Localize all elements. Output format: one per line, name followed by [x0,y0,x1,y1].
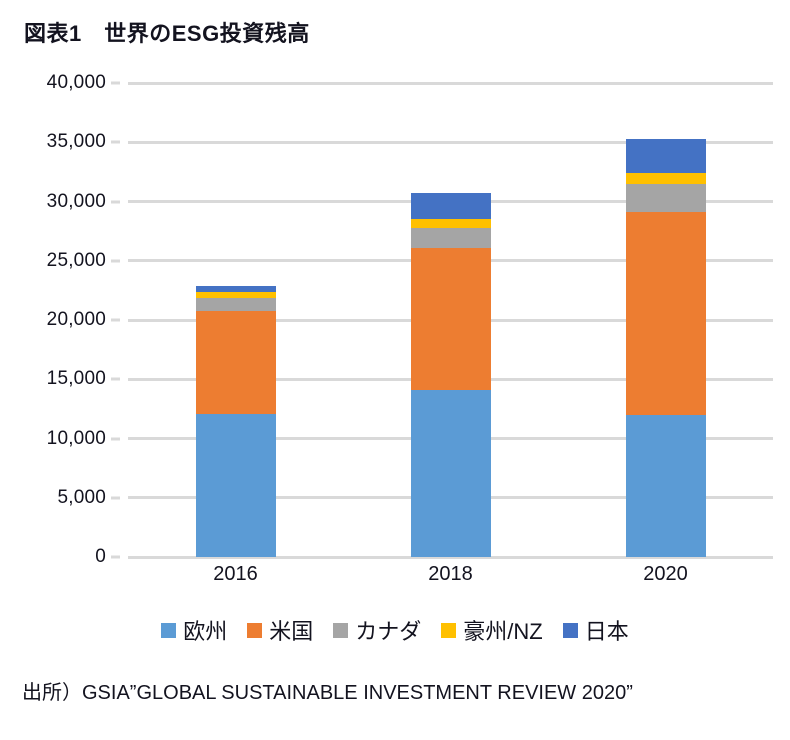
y-axis-tick-mark [111,200,120,203]
y-axis-tick-label: 0 [95,546,106,568]
y-axis: 05,00010,00015,00020,00025,00030,00035,0… [24,83,120,557]
y-axis-tick-mark [111,496,120,499]
y-axis-tick-label: 10,000 [47,428,106,450]
x-axis-tick-label-2020: 2020 [643,563,688,586]
legend-swatch-icon [333,623,348,638]
y-axis-tick-label: 20,000 [47,309,106,331]
bar-group-2016[interactable] [196,83,276,557]
plot-area [128,83,773,557]
bar-segment-2020-日本[interactable] [626,139,706,173]
y-axis-tick-mark [111,556,120,559]
bar-segment-2016-豪州/NZ[interactable] [196,292,276,298]
y-axis-tick-mark [111,319,120,322]
y-axis-tick-mark [111,141,120,144]
bar-segment-2016-日本[interactable] [196,286,276,292]
legend-swatch-icon [441,623,456,638]
bar-segment-2018-豪州/NZ[interactable] [411,219,491,228]
chart-legend: 欧州米国カナダ豪州/NZ日本 [0,614,790,646]
bar-segment-2016-カナダ[interactable] [196,298,276,311]
bar-segment-2020-欧州[interactable] [626,415,706,557]
bar-segment-2018-カナダ[interactable] [411,228,491,248]
x-axis-tick-label-2018: 2018 [428,563,473,586]
y-axis-tick-label: 5,000 [57,487,106,509]
bar-segment-2020-米国[interactable] [626,212,706,414]
y-axis-tick-label: 25,000 [47,250,106,272]
legend-item-日本[interactable]: 日本 [563,614,629,646]
y-axis-tick-label: 15,000 [47,368,106,390]
y-axis-tick-mark [111,378,120,381]
legend-swatch-icon [247,623,262,638]
x-axis-tick-label-2016: 2016 [213,563,258,586]
legend-label: 米国 [269,614,313,646]
legend-label: 日本 [585,614,629,646]
bar-segment-2016-欧州[interactable] [196,414,276,557]
y-axis-tick-label: 30,000 [47,191,106,213]
y-axis-tick-mark [111,82,120,85]
bar-segment-2020-カナダ[interactable] [626,184,706,213]
y-axis-tick-mark [111,437,120,440]
bar-segment-2018-日本[interactable] [411,193,491,219]
bar-segment-2018-欧州[interactable] [411,390,491,557]
legend-label: 欧州 [183,614,227,646]
y-axis-tick-label: 35,000 [47,131,106,153]
bar-segment-2016-米国[interactable] [196,311,276,414]
legend-item-米国[interactable]: 米国 [247,614,313,646]
legend-swatch-icon [161,623,176,638]
bar-group-2018[interactable] [411,83,491,557]
legend-item-カナダ[interactable]: カナダ [333,614,421,646]
y-axis-tick-label: 40,000 [47,72,106,94]
y-axis-tick-mark [111,259,120,262]
chart-title: 図表1 世界のESG投資残高 [24,16,310,48]
legend-swatch-icon [563,623,578,638]
source-note: 出所）GSIA”GLOBAL SUSTAINABLE INVESTMENT RE… [22,676,633,705]
esg-investment-chart-figure: 図表1 世界のESG投資残高 05,00010,00015,00020,0002… [0,0,790,740]
bar-segment-2018-米国[interactable] [411,248,491,390]
x-axis: 201620182020 [128,563,773,597]
legend-label: 豪州/NZ [463,614,542,646]
legend-item-豪州/NZ[interactable]: 豪州/NZ [441,614,542,646]
legend-item-欧州[interactable]: 欧州 [161,614,227,646]
legend-label: カナダ [355,614,421,646]
bar-segment-2020-豪州/NZ[interactable] [626,173,706,184]
bar-group-2020[interactable] [626,83,706,557]
